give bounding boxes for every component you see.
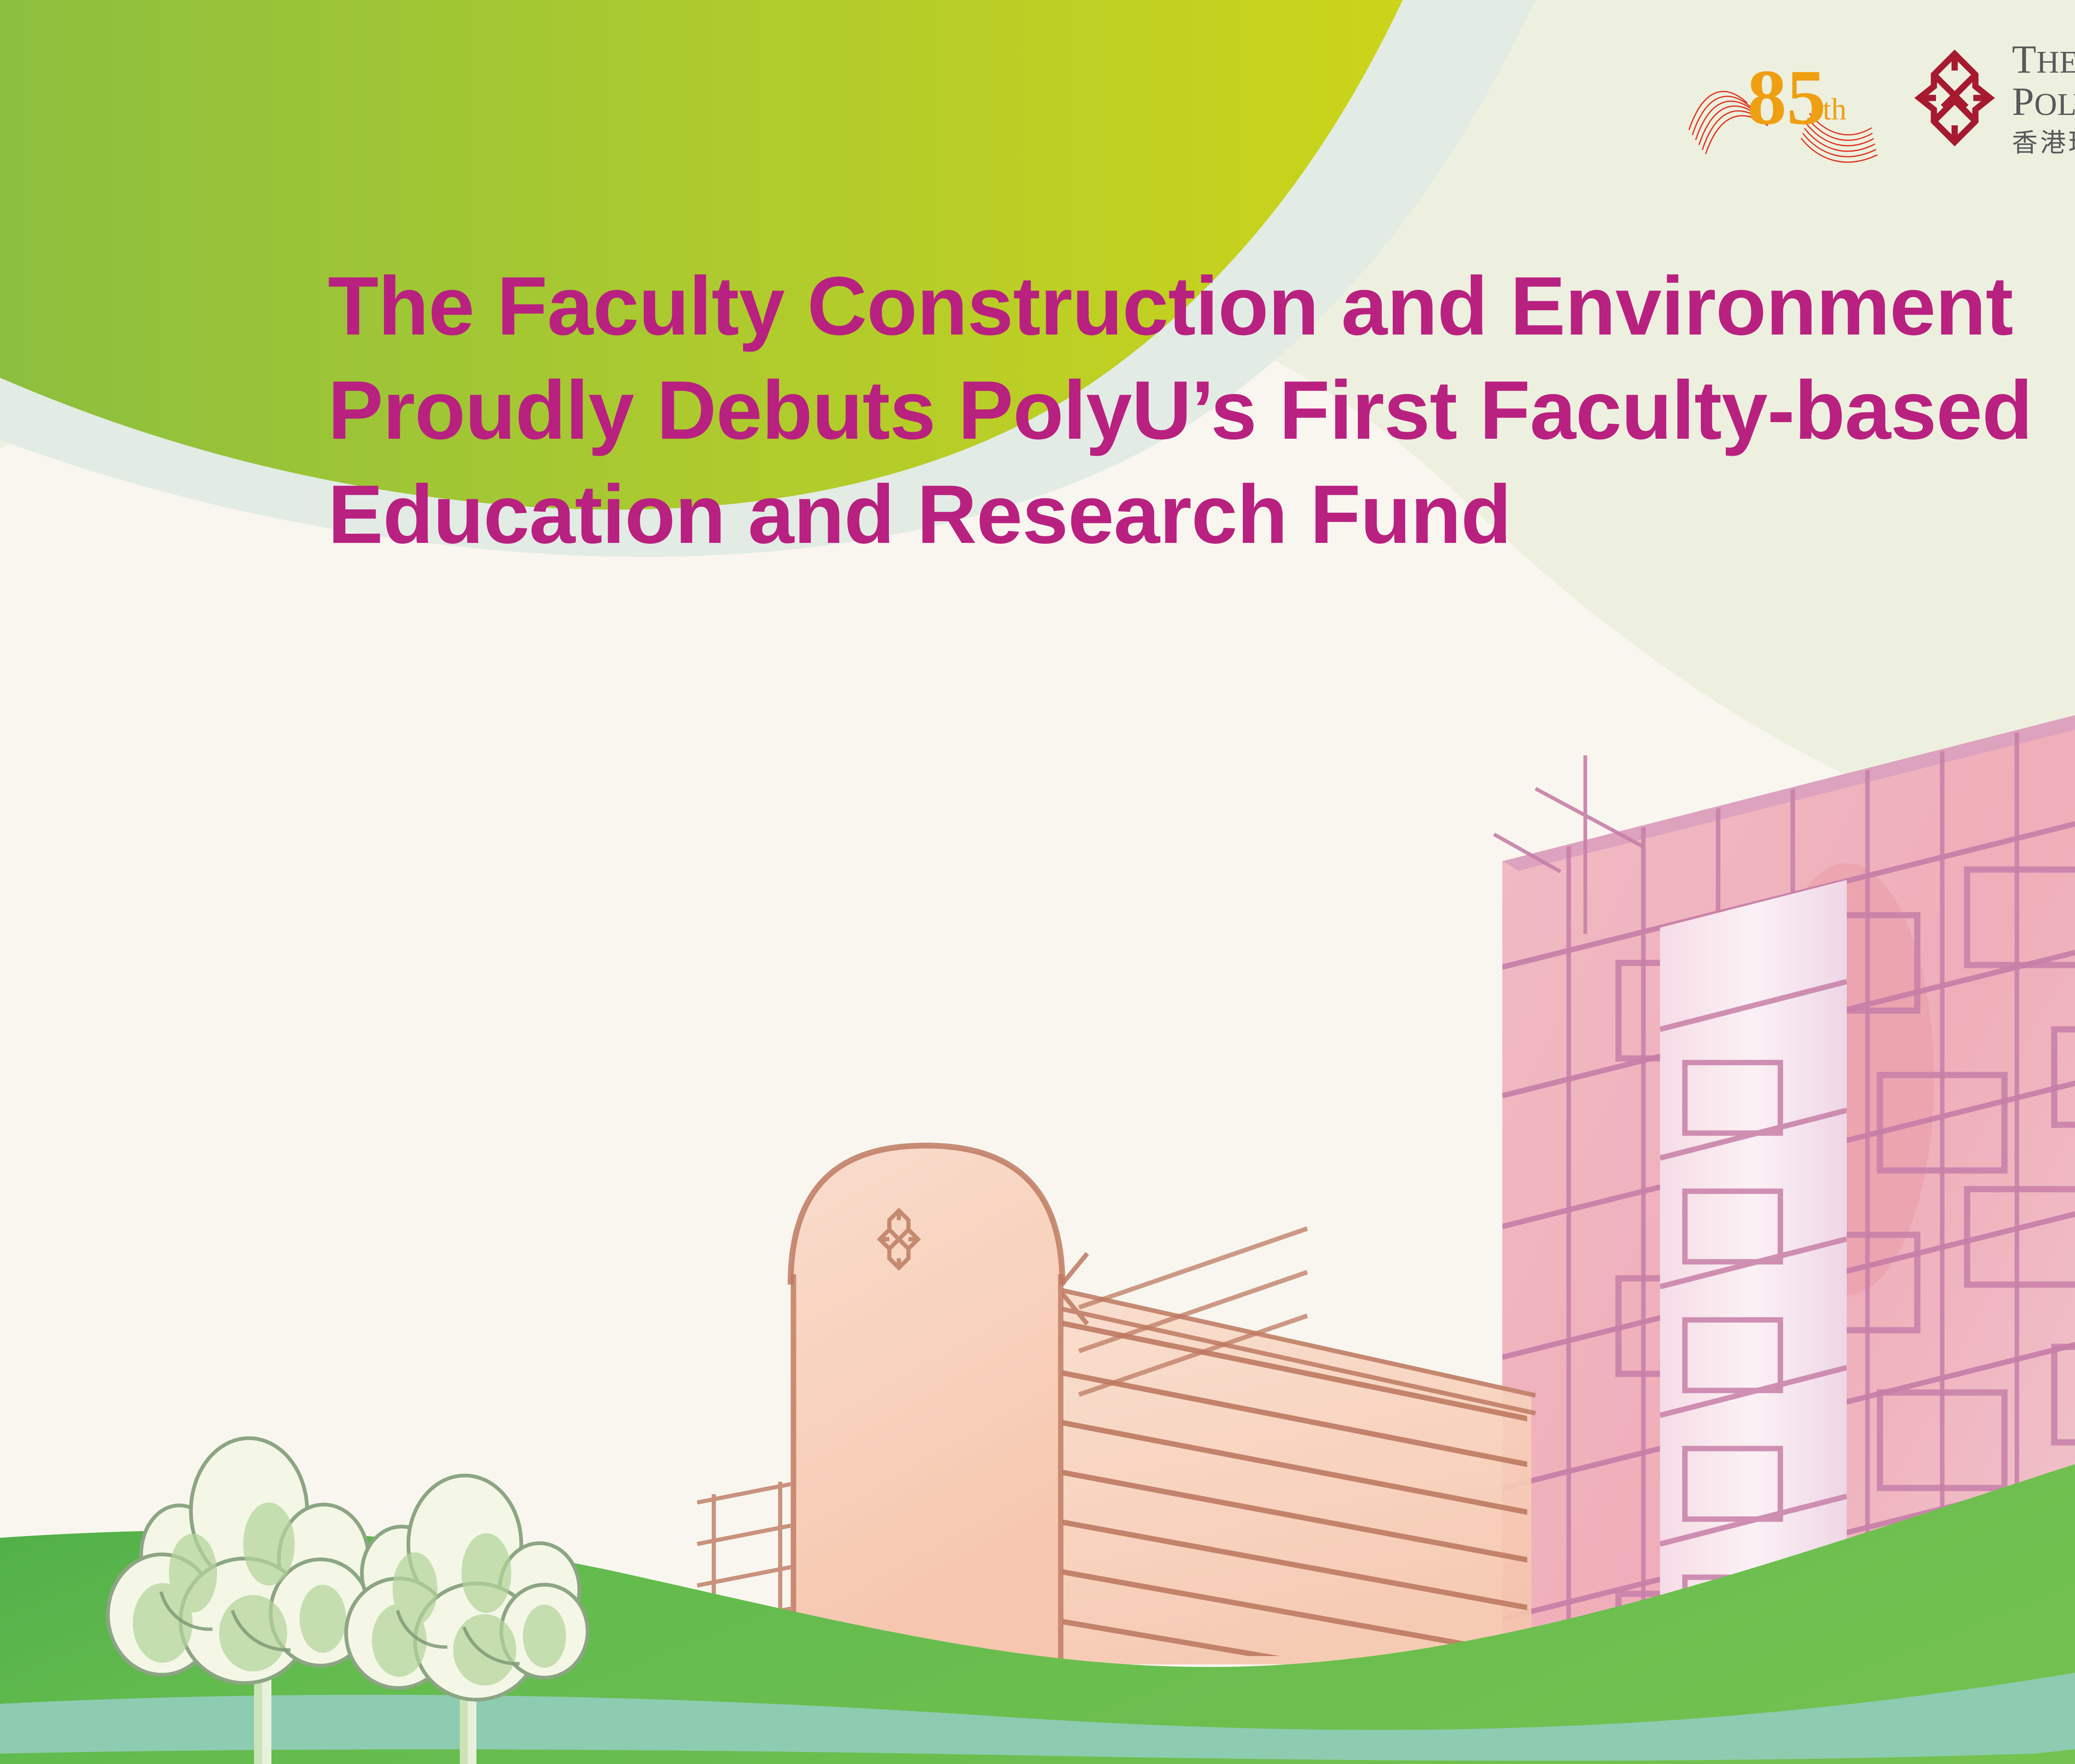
anniversary-number: 85: [1747, 54, 1826, 141]
polyu-wordmark: THE HONG KONG POLYTECHNIC UNIVERSITY 香港理…: [2012, 39, 2075, 156]
polyu-name-chinese: 香港理工大學: [2012, 130, 2075, 156]
headline-line-2: Proudly Debuts PolyU’s First Faculty-bas…: [328, 358, 2032, 462]
polyu-knot-icon: [1913, 49, 1996, 147]
anniversary-85th-icon: 85 th: [1685, 30, 1917, 167]
polyu-name-line2: POLYTECHNIC UNIVERSITY: [2012, 82, 2075, 122]
page-headline: The Faculty Construction and Environment…: [328, 254, 2032, 567]
polyu-name-line1: THE HONG KONG: [2012, 39, 2075, 79]
header-logo-lockup: 85 th THE HONG KONG POLYTE: [1685, 0, 2075, 195]
banner-canvas: 85 th THE HONG KONG POLYTE: [0, 0, 2075, 1764]
headline-line-1: The Faculty Construction and Environment: [328, 254, 2032, 358]
anniversary-suffix: th: [1823, 93, 1847, 127]
polyu-logo: THE HONG KONG POLYTECHNIC UNIVERSITY 香港理…: [1913, 39, 2075, 156]
headline-line-3: Education and Research Fund: [328, 462, 2032, 567]
